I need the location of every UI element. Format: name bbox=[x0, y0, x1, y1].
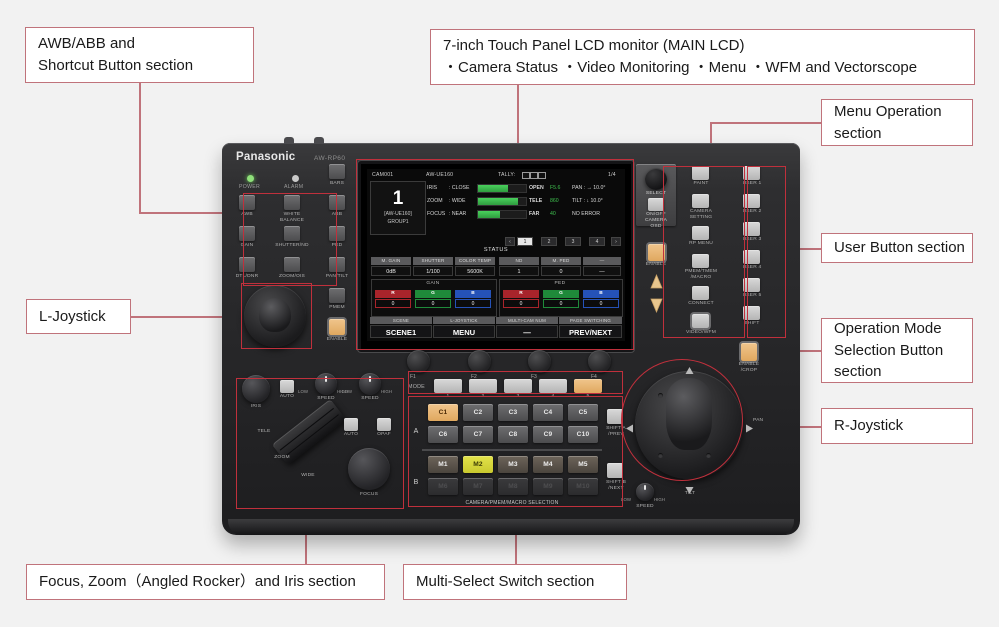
gain-r-value: 0 bbox=[375, 299, 411, 308]
speed-knob-right-high: HIGH bbox=[381, 389, 392, 394]
pager-page-3[interactable]: 3 bbox=[565, 237, 581, 246]
select-button-m5-label: M5 bbox=[568, 461, 598, 469]
callout-awb-abb: AWB/ABB and Shortcut Button section bbox=[25, 27, 254, 83]
lcd-page-indicator: 1/4 bbox=[608, 172, 616, 178]
button-pan-tilt-label: PAN/TILT bbox=[320, 274, 354, 280]
button-user-3-label: USER 3 bbox=[730, 237, 774, 243]
button-user-3[interactable] bbox=[743, 222, 760, 236]
diagram-canvas: AWB/ABB and Shortcut Button section 7-in… bbox=[0, 0, 999, 627]
button-iris-auto-label: AUTO bbox=[273, 394, 301, 400]
speed-knob-left-low: LOW bbox=[298, 389, 308, 394]
callout-user-button: User Button section bbox=[821, 233, 973, 263]
select-dial-label: SELECT bbox=[638, 191, 674, 197]
status-header-m-ped: M. PED bbox=[541, 257, 581, 265]
button-user-4[interactable] bbox=[743, 250, 760, 264]
button-camera-setting[interactable] bbox=[692, 194, 709, 208]
ped-group-title: PED bbox=[499, 281, 621, 286]
lcd-row-focus: FOCUS bbox=[427, 211, 445, 221]
pager-page-1[interactable]: 1 bbox=[517, 237, 533, 246]
status-header-m-gain: M. GAIN bbox=[371, 257, 411, 265]
callout-user-button-line1: User Button section bbox=[834, 237, 960, 259]
callout-menu-operation-line2: section bbox=[834, 123, 960, 145]
button-user-2-label: USER 2 bbox=[730, 209, 774, 215]
button-rp-menu[interactable] bbox=[692, 226, 709, 240]
select-button-c3-label: C3 bbox=[498, 409, 528, 417]
knob-f1-label: F1 bbox=[410, 374, 416, 380]
button-connect-label: CONNECT bbox=[681, 301, 721, 307]
mode-button-4-label: 4 bbox=[539, 394, 567, 400]
ped-g-value: 0 bbox=[543, 299, 579, 308]
lcd-focus-bar bbox=[477, 210, 527, 219]
l-joystick-stick[interactable] bbox=[259, 298, 291, 332]
mode-button-5-label: 5 bbox=[574, 394, 602, 400]
callout-menu-operation-line1: Menu Operation bbox=[834, 101, 960, 123]
button-shift-label: SHIFT bbox=[730, 321, 774, 327]
speed-knob-right-label: SPEED bbox=[356, 396, 384, 402]
button-shift-b-next-label: SHIFT B /NEXT bbox=[602, 480, 630, 492]
r-joystick-pan-label: PAN bbox=[753, 418, 777, 424]
button-rp-menu-label: RP MENU bbox=[681, 241, 721, 247]
callout-main-lcd-line1: 7-inch Touch Panel LCD monitor (MAIN LCD… bbox=[443, 35, 962, 57]
callout-awb-abb-line2: Shortcut Button section bbox=[38, 55, 241, 77]
alarm-led bbox=[292, 175, 299, 182]
lcd-cam-id: CAM001 bbox=[372, 172, 393, 178]
status-header-shutter: SHUTTER bbox=[413, 257, 453, 265]
button-user-5[interactable] bbox=[743, 278, 760, 292]
gain-r-label: R bbox=[375, 290, 411, 298]
button-dtl-dnr[interactable] bbox=[239, 257, 255, 272]
button-shift[interactable] bbox=[743, 306, 760, 320]
button-shift-b-next[interactable] bbox=[607, 463, 623, 478]
pan-tilt-speed-high: HIGH bbox=[654, 497, 665, 502]
camera-osd-label: CAMERA OSD bbox=[636, 218, 676, 230]
lcd-iris-right-value: F5.6 bbox=[550, 185, 560, 195]
button-enable-crop[interactable] bbox=[741, 343, 757, 361]
pager-page-4[interactable]: 4 bbox=[589, 237, 605, 246]
soft-value-page-switching[interactable]: PREV/NEXT bbox=[559, 325, 622, 338]
alarm-led-label: ALARM bbox=[284, 184, 303, 190]
lcd-camera-group: GROUP1 bbox=[371, 219, 425, 227]
button-abb[interactable] bbox=[329, 195, 345, 210]
button-on-off[interactable] bbox=[648, 198, 664, 211]
pan-tilt-speed-low: LOW bbox=[621, 497, 631, 502]
r-joystick-stick[interactable] bbox=[666, 378, 712, 450]
lcd-cam-model: AW-UE160 bbox=[426, 172, 453, 178]
power-led bbox=[247, 175, 254, 182]
button-pmem-tmem-macro[interactable] bbox=[692, 254, 709, 268]
selection-grid-divider bbox=[422, 449, 602, 451]
select-button-m10-label: M10 bbox=[568, 483, 598, 491]
soft-value-multi-cam-num[interactable]: — bbox=[496, 325, 558, 338]
leader-awb bbox=[139, 83, 141, 213]
select-button-c9-label: C9 bbox=[533, 431, 563, 439]
button-gain[interactable] bbox=[239, 226, 255, 241]
lcd-zoom-left: : WIDE bbox=[449, 198, 465, 208]
lcd-soft-bar[interactable]: SCENE SCENE1 L-JOYSTICK MENU MULTI-CAM N… bbox=[370, 317, 622, 339]
select-button-c2-label: C2 bbox=[463, 409, 493, 417]
button-user-4-label: USER 4 bbox=[730, 265, 774, 271]
select-button-c5-label: C5 bbox=[568, 409, 598, 417]
mode-button-5[interactable] bbox=[574, 379, 602, 393]
soft-value-l-joystick[interactable]: MENU bbox=[433, 325, 495, 338]
button-focus-auto[interactable] bbox=[344, 418, 358, 431]
button-awb-label: AWB bbox=[230, 212, 264, 218]
lcd-row-zoom: ZOOM bbox=[427, 198, 443, 208]
device-base-bar bbox=[228, 519, 794, 535]
button-iris-auto[interactable] bbox=[280, 380, 294, 393]
top-nub-left bbox=[284, 137, 294, 144]
zoom-rocker-line-2 bbox=[285, 414, 339, 457]
selection-grid-caption: CAMERA/PMEM/MACRO SELECTION bbox=[418, 500, 606, 506]
select-button-m8-label: M8 bbox=[498, 483, 528, 491]
status-header-color-temp: COLOR TEMP bbox=[455, 257, 495, 265]
lcd-info-error: NO ERROR bbox=[572, 211, 600, 221]
lcd-info-tilt: TILT : ↓ 10.0° bbox=[572, 198, 603, 208]
status-header-extra: — bbox=[583, 257, 621, 265]
select-button-c4-label: C4 bbox=[533, 409, 563, 417]
select-button-m7-label: M7 bbox=[463, 483, 493, 491]
speed-knob-right-low: LOW bbox=[342, 389, 352, 394]
lcd-focus-right-value: 40 bbox=[550, 211, 556, 221]
lcd-iris-bar bbox=[477, 184, 527, 193]
knob-f4[interactable] bbox=[588, 350, 611, 373]
lcd-tally-label: TALLY: bbox=[498, 172, 515, 178]
button-shift-a-prev[interactable] bbox=[607, 409, 623, 424]
button-user-1[interactable] bbox=[743, 166, 760, 180]
tally-box-1 bbox=[522, 172, 530, 179]
button-enable-menu[interactable] bbox=[648, 244, 665, 261]
zoom-rocker-zoom-label: ZOOM bbox=[268, 455, 296, 461]
r-joystick-screw-bl bbox=[658, 453, 663, 458]
callout-l-joystick: L-Joystick bbox=[26, 299, 131, 334]
select-button-m4-label: M4 bbox=[533, 461, 563, 469]
lcd-iris-left: : CLOSE bbox=[449, 185, 469, 195]
button-gain-label: GAIN bbox=[230, 243, 264, 249]
down-arrow-icon[interactable] bbox=[649, 298, 664, 313]
selection-row-b-label: B bbox=[410, 479, 422, 488]
pan-tilt-speed-knob[interactable] bbox=[636, 483, 654, 501]
pager-page-2[interactable]: 2 bbox=[541, 237, 557, 246]
button-bars[interactable] bbox=[329, 164, 345, 179]
focus-dial[interactable] bbox=[348, 448, 390, 490]
button-enable-crop-label: ENABLE /CROP bbox=[731, 362, 767, 374]
leader-menu-h bbox=[710, 122, 821, 124]
button-white-balance-label: WHITE BALANCE bbox=[275, 212, 309, 224]
up-arrow-icon[interactable] bbox=[649, 274, 664, 289]
zoom-rocker-tele-label: TELE bbox=[250, 429, 278, 435]
select-dial[interactable] bbox=[645, 168, 667, 190]
ped-g-label: G bbox=[543, 290, 579, 298]
callout-r-joystick-line1: R-Joystick bbox=[834, 415, 960, 437]
model-name: AW-RP60 bbox=[314, 155, 345, 162]
lcd-info-pan: PAN : → 10.0° bbox=[572, 185, 605, 195]
button-enable-left[interactable] bbox=[329, 319, 345, 335]
select-button-c10-label: C10 bbox=[568, 431, 598, 439]
status-value-m-gain: 0dB bbox=[371, 266, 411, 276]
callout-main-lcd: 7-inch Touch Panel LCD monitor (MAIN LCD… bbox=[430, 29, 975, 85]
lcd-camera-card[interactable]: 1 [AW-UE160] GROUP1 bbox=[370, 181, 426, 235]
button-pan-tilt[interactable] bbox=[329, 257, 345, 272]
callout-multi-select-line1: Multi-Select Switch section bbox=[416, 571, 614, 593]
button-awb[interactable] bbox=[239, 195, 255, 210]
lcd-zoom-right-label: TELE bbox=[529, 198, 542, 208]
lcd-focus-right-label: FAR bbox=[529, 211, 539, 221]
lcd-zoom-name: ZOOM bbox=[427, 198, 443, 204]
select-button-m9-label: M9 bbox=[533, 483, 563, 491]
select-button-m2-label: M2 bbox=[463, 461, 493, 469]
pager-prev[interactable]: ‹ bbox=[505, 237, 515, 246]
button-focus-auto-label: AUTO bbox=[337, 432, 365, 438]
iris-dial-label: IRIS bbox=[242, 404, 270, 410]
callout-r-joystick: R-Joystick bbox=[821, 408, 973, 444]
gain-b-label: B bbox=[455, 290, 491, 298]
callout-focus-zoom-iris: Focus, Zoom（Angled Rocker）and Iris secti… bbox=[26, 564, 385, 600]
select-button-c8-label: C8 bbox=[498, 431, 528, 439]
r-joystick-screw-tl bbox=[658, 393, 663, 398]
button-pmem-label: PMEM bbox=[320, 305, 354, 311]
soft-header-l-joystick: L-JOYSTICK bbox=[433, 317, 495, 324]
button-focus-opaf[interactable] bbox=[377, 418, 391, 431]
lcd-header: CAM001 AW-UE160 TALLY: 1/4 bbox=[370, 171, 622, 180]
callout-operation-mode: Operation Mode Selection Button section bbox=[821, 318, 973, 383]
lcd-screen[interactable]: CAM001 AW-UE160 TALLY: 1/4 1 [AW-UE160] … bbox=[367, 169, 625, 341]
select-button-m3-label: M3 bbox=[498, 461, 528, 469]
zoom-rocker-wide-label: WIDE bbox=[294, 473, 322, 479]
ped-b-label: B bbox=[583, 290, 619, 298]
pager-next[interactable]: › bbox=[611, 237, 621, 246]
ped-r-value: 0 bbox=[503, 299, 539, 308]
select-button-m6-label: M6 bbox=[428, 483, 458, 491]
top-nub-right bbox=[314, 137, 324, 144]
mode-button-3-label: 3 bbox=[504, 394, 532, 400]
mode-button-2[interactable] bbox=[469, 379, 497, 393]
knob-f3-label: F3 bbox=[531, 374, 537, 380]
select-button-c7-label: C7 bbox=[463, 431, 493, 439]
mode-button-1-label: 1 bbox=[434, 394, 462, 400]
speed-knob-right[interactable] bbox=[359, 373, 381, 395]
button-enable-menu-label: ENABLE bbox=[638, 262, 674, 268]
tally-box-3 bbox=[538, 172, 546, 179]
mode-button-4[interactable] bbox=[539, 379, 567, 393]
soft-header-page-switching: PAGE SWITCHING bbox=[559, 317, 622, 324]
button-user-1-label: USER 1 bbox=[730, 181, 774, 187]
callout-awb-abb-line1: AWB/ABB and bbox=[38, 33, 241, 55]
button-abb-label: ABB bbox=[320, 212, 354, 218]
lcd-zoom-bar-fill bbox=[478, 198, 518, 205]
mode-section-label: MODE bbox=[408, 384, 432, 391]
button-video-wfm-label: VIDEO/WFM bbox=[681, 330, 721, 336]
gain-group-title: GAIN bbox=[371, 281, 495, 286]
callout-l-joystick-line1: L-Joystick bbox=[39, 306, 118, 328]
speed-knob-right-marker bbox=[369, 376, 371, 382]
ped-r-label: R bbox=[503, 290, 539, 298]
lcd-iris-name: IRIS bbox=[427, 185, 437, 191]
pan-tilt-speed-knob-marker bbox=[644, 485, 646, 490]
mode-button-2-label: 2 bbox=[469, 394, 497, 400]
zoom-rocker-line-1 bbox=[280, 408, 334, 451]
button-shutter-nd-label: SHUTTER/ND bbox=[275, 243, 309, 249]
tally-box-2 bbox=[530, 172, 538, 179]
callout-operation-mode-line1: Operation Mode bbox=[834, 318, 960, 340]
lcd-status-title: STATUS bbox=[367, 247, 625, 253]
button-ped-label: PED bbox=[320, 243, 354, 249]
iris-dial[interactable] bbox=[242, 375, 270, 403]
button-focus-opaf-label: OPAF bbox=[370, 432, 398, 438]
soft-value-scene[interactable]: SCENE1 bbox=[370, 325, 432, 338]
brand-logo: Panasonic bbox=[236, 151, 295, 163]
button-bars-label: BARS bbox=[320, 181, 354, 187]
main-lcd[interactable]: CAM001 AW-UE160 TALLY: 1/4 1 [AW-UE160] … bbox=[358, 161, 634, 352]
button-connect[interactable] bbox=[692, 286, 709, 300]
lcd-pager[interactable]: ‹ 1 2 3 4 › bbox=[505, 237, 621, 246]
button-camera-setting-label: CAMERA SETTING bbox=[681, 209, 721, 221]
button-enable-left-label: ENABLE bbox=[320, 337, 354, 343]
lcd-focus-name: FOCUS bbox=[427, 211, 445, 217]
button-white-balance[interactable] bbox=[284, 195, 300, 210]
gain-g-label: G bbox=[415, 290, 451, 298]
knob-f3[interactable] bbox=[528, 350, 551, 373]
soft-header-scene: SCENE bbox=[370, 317, 432, 324]
mode-button-1[interactable] bbox=[434, 379, 462, 393]
callout-operation-mode-line3: section bbox=[834, 361, 960, 383]
button-user-2[interactable] bbox=[743, 194, 760, 208]
soft-header-multi-cam-num: MULTI-CAM NUM bbox=[496, 317, 558, 324]
lcd-zoom-bar bbox=[477, 197, 527, 206]
button-video-wfm[interactable] bbox=[692, 314, 709, 328]
status-value-m-ped: 0 bbox=[541, 266, 581, 276]
status-value-extra: — bbox=[583, 266, 621, 276]
button-pmem[interactable] bbox=[329, 288, 345, 303]
lcd-camera-number: 1 bbox=[371, 182, 425, 208]
gain-b-value: 0 bbox=[455, 299, 491, 308]
knob-f1[interactable] bbox=[407, 350, 430, 373]
callout-multi-select: Multi-Select Switch section bbox=[403, 564, 627, 600]
focus-dial-label: FOCUS bbox=[348, 492, 390, 498]
ped-b-value: 0 bbox=[583, 299, 619, 308]
callout-main-lcd-line2: ・Camera Status ・Video Monitoring ・Menu ・… bbox=[443, 57, 962, 79]
button-dtl-dnr-label: DTL/DNR bbox=[230, 274, 264, 280]
power-led-label: POWER bbox=[239, 184, 260, 190]
speed-knob-left[interactable] bbox=[315, 373, 337, 395]
button-paint[interactable] bbox=[692, 166, 709, 180]
button-zoom-ois-label: ZOOM/OIS bbox=[275, 274, 309, 280]
select-button-c6-label: C6 bbox=[428, 431, 458, 439]
r-joystick-screw-br bbox=[706, 453, 711, 458]
lcd-iris-right-label: OPEN bbox=[529, 185, 544, 195]
knob-f2[interactable] bbox=[468, 350, 491, 373]
lcd-focus-left: : NEAR bbox=[449, 211, 466, 221]
select-button-m1-label: M1 bbox=[428, 461, 458, 469]
callout-menu-operation: Menu Operation section bbox=[821, 99, 973, 146]
button-ped[interactable] bbox=[329, 226, 345, 241]
lcd-iris-bar-fill bbox=[478, 185, 508, 192]
callout-focus-zoom-iris-line1: Focus, Zoom（Angled Rocker）and Iris secti… bbox=[39, 571, 372, 593]
button-user-5-label: USER 5 bbox=[730, 293, 774, 299]
mode-button-3[interactable] bbox=[504, 379, 532, 393]
status-value-nd: 1 bbox=[499, 266, 539, 276]
button-pmem-tmem-macro-label: PMEM/TMEM /MACRO bbox=[679, 269, 723, 281]
status-header-nd: ND bbox=[499, 257, 539, 265]
callout-operation-mode-line2: Selection Button bbox=[834, 340, 960, 362]
button-zoom-ois[interactable] bbox=[284, 257, 300, 272]
lcd-zoom-right-value: 860 bbox=[550, 198, 559, 208]
lcd-camera-model: [AW-UE160] bbox=[371, 208, 425, 219]
gain-g-value: 0 bbox=[415, 299, 451, 308]
aw-rp60-controller: Panasonic AW-RP60 POWER ALARM AWB WHITE … bbox=[222, 143, 800, 535]
selection-row-a-label: A bbox=[410, 428, 422, 437]
lcd-focus-bar-fill bbox=[478, 211, 500, 218]
lcd-row-iris: IRIS bbox=[427, 185, 437, 195]
r-joystick-tilt-label: TILT bbox=[678, 491, 702, 497]
speed-knob-left-marker bbox=[325, 376, 327, 382]
status-value-color-temp: 5600K bbox=[455, 266, 495, 276]
button-paint-label: PAINT bbox=[681, 181, 721, 187]
status-value-shutter: 1/100 bbox=[413, 266, 453, 276]
pan-tilt-speed-label: SPEED bbox=[631, 504, 659, 510]
select-button-c1-label: C1 bbox=[428, 409, 458, 417]
button-shutter-nd[interactable] bbox=[284, 226, 300, 241]
